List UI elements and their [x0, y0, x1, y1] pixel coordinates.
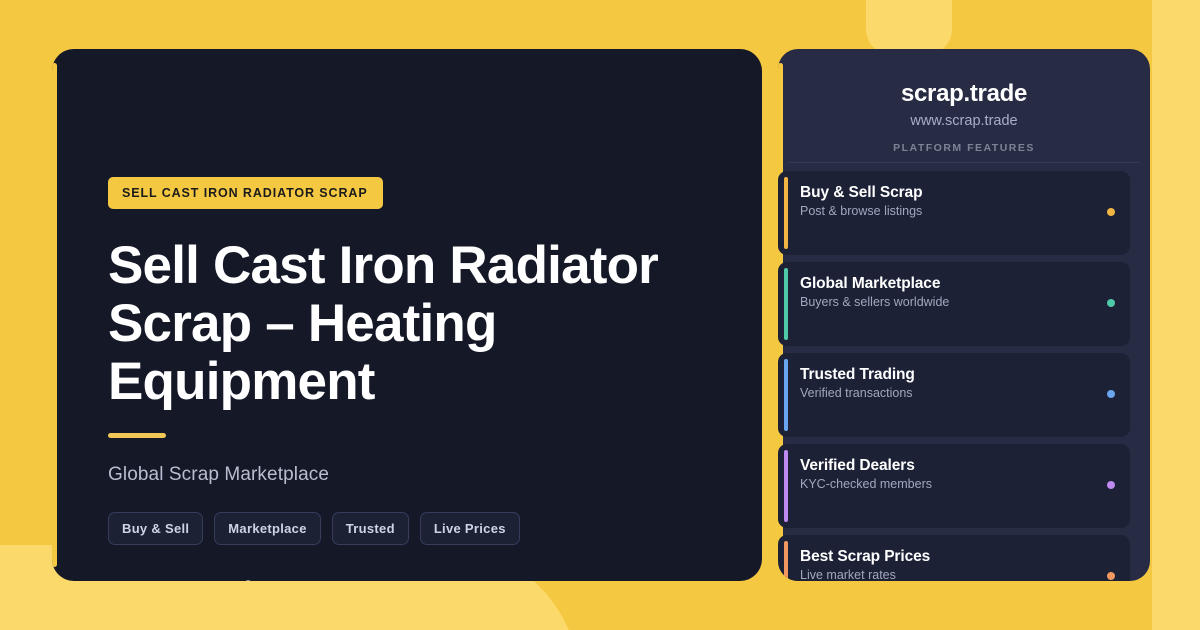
brand-lockup: scrap.trade [108, 576, 722, 581]
hero-pill-row: Buy & Sell Marketplace Trusted Live Pric… [108, 512, 722, 545]
brand-name: scrap.trade [124, 576, 266, 581]
background-accent-top-right [866, 0, 952, 55]
pill-trusted[interactable]: Trusted [332, 512, 409, 545]
title-underline-accent [108, 433, 166, 438]
feature-item-best-scrap-prices[interactable]: Best Scrap Prices Live market rates [778, 535, 1130, 581]
feature-status-dot-icon [1107, 390, 1115, 398]
feature-title: Best Scrap Prices [800, 548, 1096, 566]
feature-status-dot-icon [1107, 572, 1115, 580]
feature-accent-bar [784, 450, 788, 522]
features-panel-header: scrap.trade www.scrap.trade PLATFORM FEA… [778, 49, 1150, 154]
feature-item-global-marketplace[interactable]: Global Marketplace Buyers & sellers worl… [778, 262, 1130, 346]
feature-subtitle: Live market rates [800, 568, 1096, 581]
panel-brand-title: scrap.trade [796, 80, 1132, 108]
hero-card-accent-bar [52, 63, 57, 567]
pill-live-prices[interactable]: Live Prices [420, 512, 520, 545]
pill-marketplace[interactable]: Marketplace [214, 512, 320, 545]
hero-tagline: Global Scrap Marketplace [108, 464, 722, 486]
feature-status-dot-icon [1107, 208, 1115, 216]
feature-subtitle: Post & browse listings [800, 204, 1096, 218]
feature-title: Buy & Sell Scrap [800, 184, 1096, 202]
feature-item-trusted-trading[interactable]: Trusted Trading Verified transactions [778, 353, 1130, 437]
feature-item-verified-dealers[interactable]: Verified Dealers KYC-checked members [778, 444, 1130, 528]
feature-status-dot-icon [1107, 481, 1115, 489]
feature-subtitle: Verified transactions [800, 386, 1096, 400]
hero-content: SELL CAST IRON RADIATOR SCRAP Sell Cast … [108, 49, 722, 581]
pill-buy-sell[interactable]: Buy & Sell [108, 512, 203, 545]
panel-website-url: www.scrap.trade [796, 113, 1132, 129]
feature-title: Verified Dealers [800, 457, 1096, 475]
feature-list: Buy & Sell Scrap Post & browse listings … [778, 163, 1150, 581]
feature-subtitle: Buyers & sellers worldwide [800, 295, 1096, 309]
hero-card: SELL CAST IRON RADIATOR SCRAP Sell Cast … [52, 49, 762, 581]
feature-accent-bar [784, 268, 788, 340]
feature-subtitle: KYC-checked members [800, 477, 1096, 491]
feature-accent-bar [784, 359, 788, 431]
feature-item-buy-sell-scrap[interactable]: Buy & Sell Scrap Post & browse listings [778, 171, 1130, 255]
feature-title: Global Marketplace [800, 275, 1096, 293]
eyebrow-badge: SELL CAST IRON RADIATOR SCRAP [108, 177, 383, 209]
page-title: Sell Cast Iron Radiator Scrap – Heating … [108, 237, 708, 411]
feature-status-dot-icon [1107, 299, 1115, 307]
feature-title: Trusted Trading [800, 366, 1096, 384]
feature-accent-bar [784, 177, 788, 249]
background-accent-right-band [1152, 0, 1200, 630]
panel-section-label: PLATFORM FEATURES [796, 142, 1132, 154]
features-panel: scrap.trade www.scrap.trade PLATFORM FEA… [778, 49, 1150, 581]
feature-accent-bar [784, 541, 788, 581]
